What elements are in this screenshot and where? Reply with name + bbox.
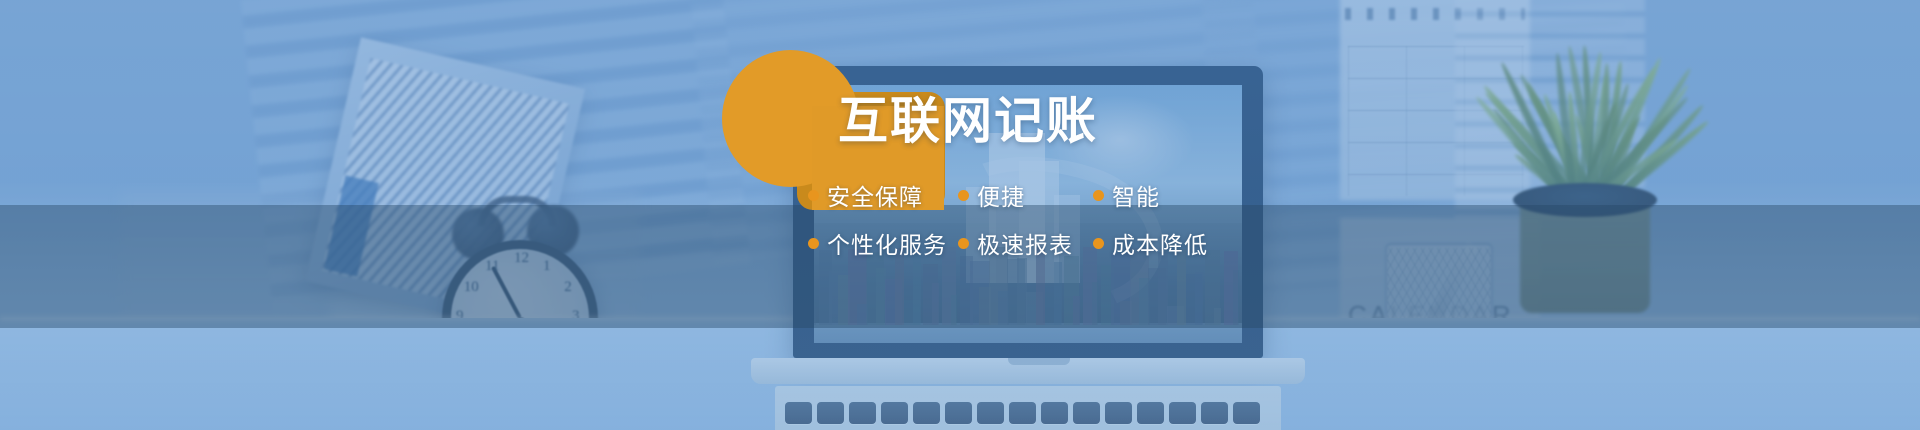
bullet-dot-icon bbox=[808, 238, 819, 249]
feature-row: 个性化服务极速报表成本降低 bbox=[808, 226, 1268, 260]
bullet-dot-icon bbox=[958, 190, 969, 201]
page-title: 互联网记账 bbox=[838, 92, 1098, 151]
feature-item: 智能 bbox=[1093, 178, 1160, 212]
bullet-dot-icon bbox=[1093, 190, 1104, 201]
bullet-dot-icon bbox=[1093, 238, 1104, 249]
feature-label: 极速报表 bbox=[977, 226, 1073, 260]
feature-label: 智能 bbox=[1112, 178, 1160, 212]
promo-banner: CALENDAR 123456789101112 bbox=[0, 0, 1920, 430]
feature-row: 安全保障便捷智能 bbox=[808, 178, 1268, 212]
feature-item: 成本降低 bbox=[1093, 226, 1208, 260]
feature-list: 安全保障便捷智能 个性化服务极速报表成本降低 bbox=[808, 178, 1268, 274]
feature-label: 便捷 bbox=[977, 178, 1025, 212]
bullet-dot-icon bbox=[808, 190, 819, 201]
feature-label: 安全保障 bbox=[827, 178, 923, 212]
feature-item: 安全保障 bbox=[808, 178, 958, 212]
feature-label: 个性化服务 bbox=[827, 226, 947, 260]
feature-item: 个性化服务 bbox=[808, 226, 958, 260]
feature-item: 便捷 bbox=[958, 178, 1093, 212]
feature-label: 成本降低 bbox=[1112, 226, 1208, 260]
bullet-dot-icon bbox=[958, 238, 969, 249]
feature-item: 极速报表 bbox=[958, 226, 1093, 260]
